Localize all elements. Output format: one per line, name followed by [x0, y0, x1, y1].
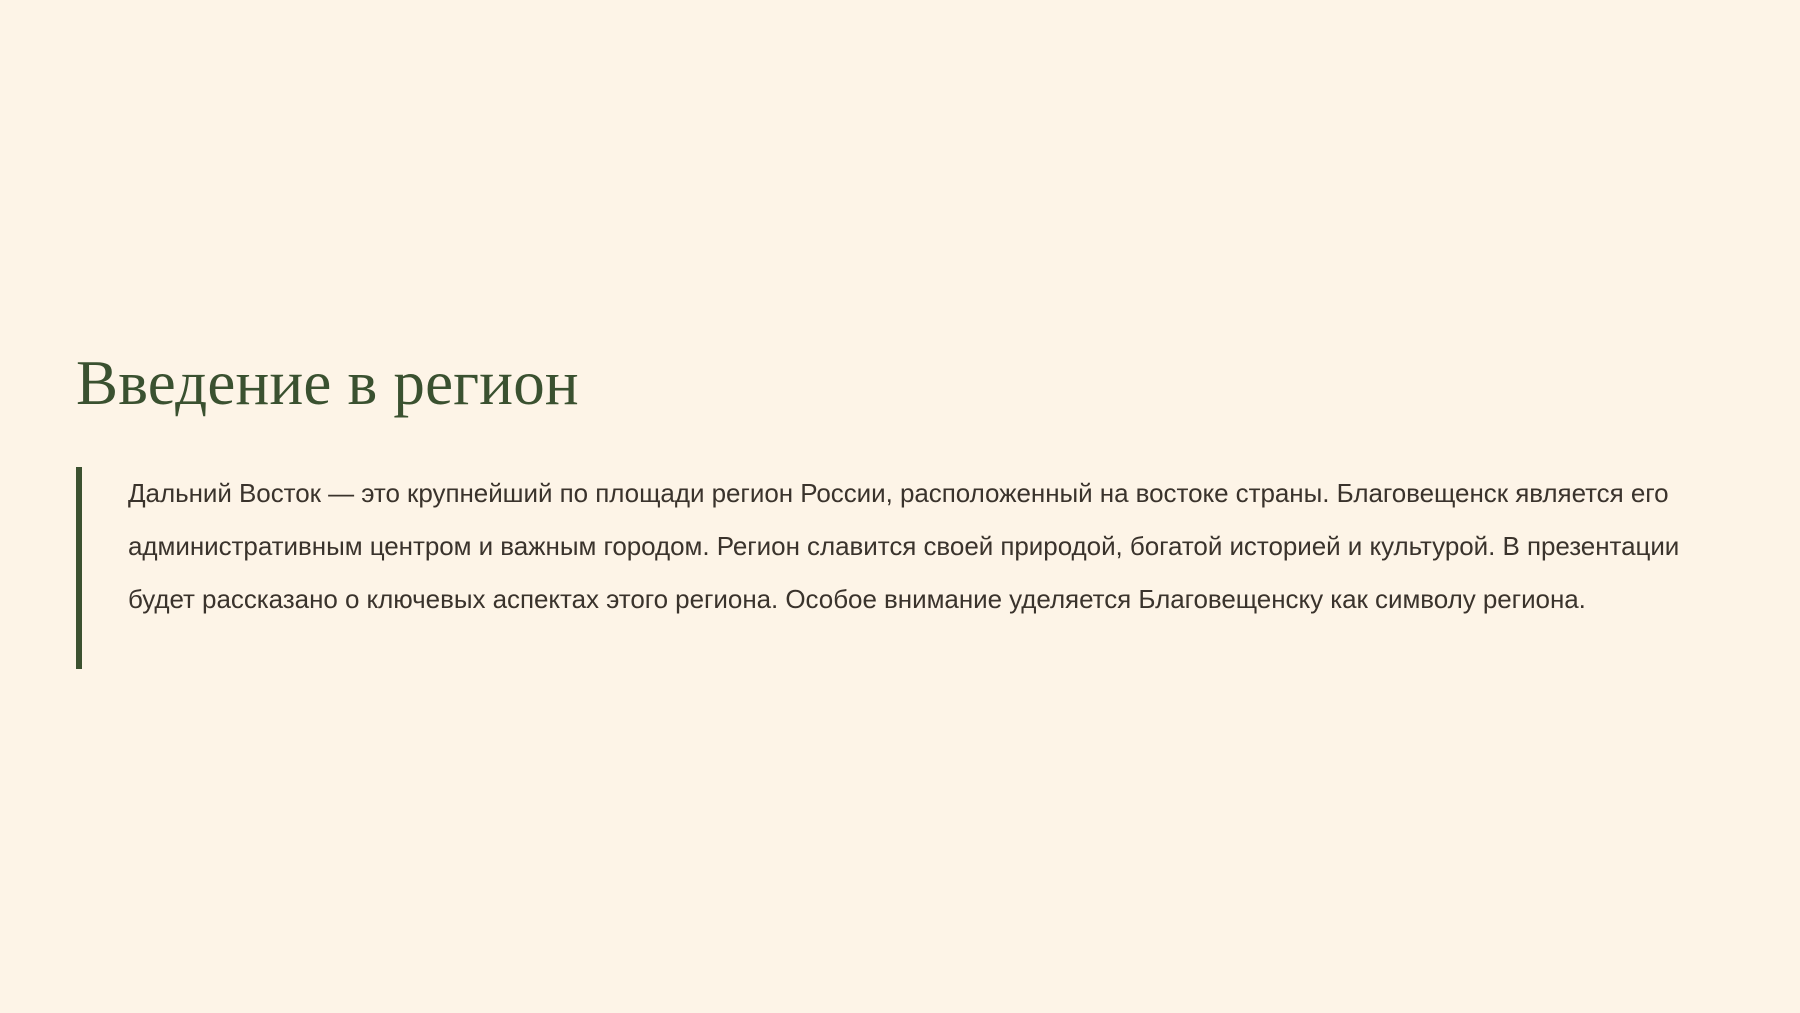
- body-paragraph: Дальний Восток — это крупнейший по площа…: [128, 467, 1698, 626]
- slide-content: Введение в регион Дальний Восток — это к…: [76, 352, 1716, 626]
- presentation-slide: Введение в регион Дальний Восток — это к…: [0, 0, 1800, 1013]
- body-callout-block: Дальний Восток — это крупнейший по площа…: [76, 467, 1716, 626]
- page-title: Введение в регион: [76, 352, 1716, 415]
- accent-bar: [76, 467, 82, 669]
